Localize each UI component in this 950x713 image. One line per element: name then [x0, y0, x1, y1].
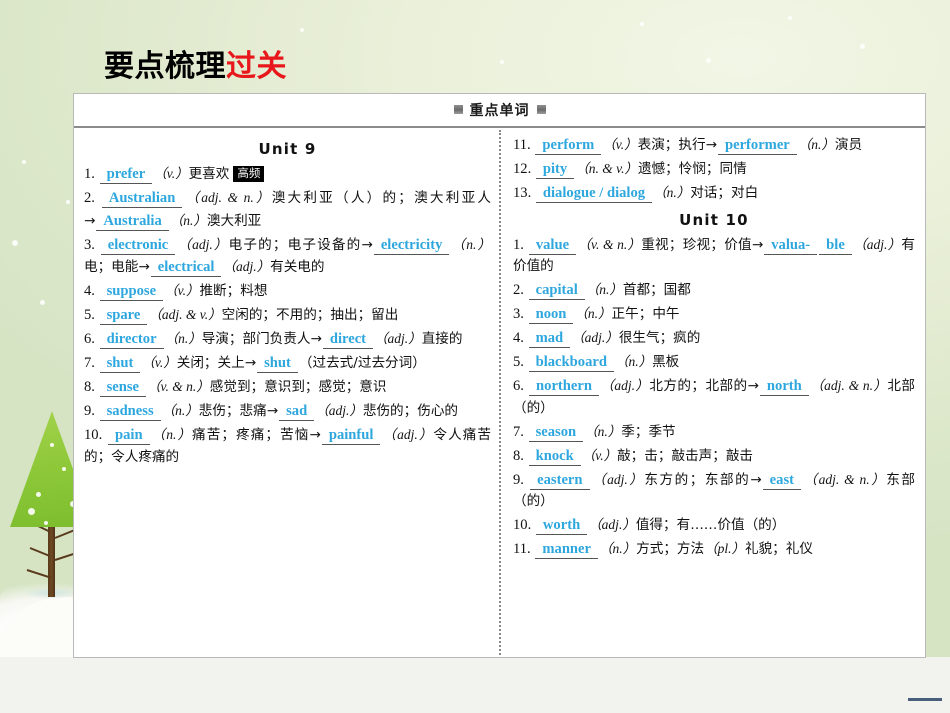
definition-text: 空闲的；不用的；抽出；留出 [222, 307, 399, 323]
column-right: 11. perform（v.）表演；执行→performer（n.）演员12. … [501, 128, 925, 657]
word-entry: 11. perform（v.）表演；执行→performer（n.）演员 [513, 134, 915, 157]
definition-text: 直接的 [422, 331, 463, 347]
part-of-speech: （adj.） [600, 378, 649, 393]
part-of-speech: （v.） [153, 166, 188, 181]
word-entry: 5. spare（adj. & v.）空闲的；不用的；抽出；留出 [84, 304, 491, 327]
panel-header: 重点单词 [74, 94, 925, 128]
answer-blank[interactable]: sadness [100, 403, 161, 421]
definition-text: 痛苦；疼痛；苦恼→ [192, 427, 321, 443]
part-of-speech: （pl.） [704, 541, 745, 556]
definition-text: 推断；料想 [199, 283, 267, 299]
square-marker-icon [454, 105, 463, 114]
word-entry-number: 11. [513, 541, 534, 557]
answer-blank[interactable]: pity [536, 161, 574, 179]
word-entry-number: 2. [513, 282, 528, 298]
part-of-speech: （v. & n.） [577, 237, 641, 252]
answer-blank[interactable]: painful [322, 427, 381, 445]
answer-blank[interactable]: noon [529, 306, 574, 324]
definition-text: 重视；珍视；价值→ [641, 237, 763, 253]
definition-text: 敲；击；敲击声；敲击 [617, 448, 753, 464]
definition-text: 悲伤；悲痛→ [199, 403, 278, 419]
part-of-speech: （n.） [615, 354, 652, 369]
part-of-speech: （n.） [165, 331, 202, 346]
page-background-footer-band [0, 657, 950, 713]
word-entry: 3. noon（n.）正午；中午 [513, 303, 915, 326]
answer-blank[interactable]: pain [108, 427, 150, 445]
word-entry-number: 8. [513, 448, 528, 464]
answer-blank[interactable]: ble [819, 237, 852, 255]
word-entry: 4. suppose（v.）推断；料想 [84, 280, 491, 303]
part-of-speech: （n.） [653, 185, 690, 200]
word-entry: 10. worth（adj.）值得；有……价值（的） [513, 514, 915, 537]
word-entry: 5. blackboard（n.）黑板 [513, 351, 915, 374]
definition-text: 电；电能→ [84, 259, 150, 275]
page-title-accent: 过关 [226, 49, 287, 84]
definition-text: 首都；国都 [623, 282, 691, 298]
part-of-speech: （adj.） [315, 403, 363, 418]
part-of-speech: （adj. & n.） [802, 472, 886, 487]
part-of-speech: （n.） [599, 541, 636, 556]
part-of-speech: （adj.） [381, 427, 433, 442]
word-entry: 8. knock（v.）敲；击；敲击声；敲击 [513, 445, 915, 468]
word-entry-number: 6. [513, 378, 528, 394]
definition-text: 正午；中午 [612, 306, 680, 322]
part-of-speech: （adj.） [571, 330, 619, 345]
definition-text: 礼貌；礼仪 [745, 541, 813, 557]
answer-blank[interactable]: electronic [101, 237, 176, 255]
word-entry: 8. sense（v. & n.）感觉到；意识到；感觉；意识 [84, 376, 491, 399]
definition-text: 表演；执行→ [638, 137, 717, 153]
definition-text: 更喜欢 [189, 166, 230, 182]
definition-text: 很生气；疯的 [619, 330, 701, 346]
snow-dot [50, 443, 54, 447]
definition-text: 导演；部门负责人→ [202, 331, 322, 347]
word-entry: 2. capital（n.）首都；国都 [513, 279, 915, 302]
answer-blank[interactable]: east [763, 472, 801, 490]
corner-marker [908, 698, 942, 701]
answer-blank[interactable]: direct [323, 331, 373, 349]
word-entry: 4. mad（adj.）很生气；疯的 [513, 327, 915, 350]
answer-blank[interactable]: sad [279, 403, 314, 421]
answer-blank[interactable]: perform [535, 137, 601, 155]
word-entry: 9. eastern（adj.）东方的；东部的→east（adj. & n.）东… [513, 469, 915, 513]
word-entry-number: 3. [84, 237, 100, 253]
answer-blank[interactable]: dialogue / dialog [536, 185, 652, 203]
answer-blank[interactable]: manner [535, 541, 598, 559]
part-of-speech: （n.） [584, 424, 621, 439]
answer-blank[interactable]: electricity [374, 237, 450, 255]
word-entry: 10. pain（n.）痛苦；疼痛；苦恼→painful（adj.）令人痛苦的；… [84, 424, 491, 468]
definition-text: 电子的；电子设备的→ [229, 237, 373, 253]
definition-text: 季；季节 [621, 424, 675, 440]
answer-blank[interactable]: knock [529, 448, 581, 466]
word-entry-number: 4. [513, 330, 528, 346]
word-entry: 12. pity（n. & v.）遗憾；怜悯；同情 [513, 158, 915, 181]
answer-blank[interactable]: performer [718, 137, 797, 155]
part-of-speech: （adj. & n.） [183, 190, 271, 205]
part-of-speech: （n.） [574, 306, 611, 321]
content-panel: 重点单词 Unit 9 1. prefer（v.）更喜欢高频2. Austral… [73, 93, 926, 658]
word-entry: 7. season（n.）季；季节 [513, 421, 915, 444]
part-of-speech: （adj.） [222, 259, 270, 274]
word-entry-number: 7. [513, 424, 528, 440]
answer-blank[interactable]: valua- [764, 237, 817, 255]
word-entry: 6. director（n.）导演；部门负责人→direct（adj.）直接的 [84, 328, 491, 351]
column-left: Unit 9 1. prefer（v.）更喜欢高频2. Australian（a… [74, 128, 499, 657]
definition-text: 东方的；东部的→ [644, 472, 761, 488]
word-entry: 1. value（v. & n.）重视；珍视；价值→valua-ble（adj.… [513, 234, 915, 278]
word-entry-number: 1. [513, 237, 528, 253]
page-title-main: 要点梳理 [104, 49, 226, 84]
definition-text: 方式；方法 [636, 541, 704, 557]
answer-blank[interactable]: season [529, 424, 584, 442]
word-list-unit9: 1. prefer（v.）更喜欢高频2. Australian（adj. & n… [84, 163, 491, 468]
word-entry-number: 10. [84, 427, 107, 443]
word-entry: 2. Australian（adj. & n.）澳大利亚（人）的；澳大利亚人→A… [84, 187, 491, 232]
snow-dot [36, 492, 41, 497]
word-entry-number: 10. [513, 517, 535, 533]
part-of-speech: （n. & v.） [575, 161, 638, 176]
part-of-speech: （n.） [586, 282, 623, 297]
word-entry-number: 1. [84, 166, 99, 182]
word-entry: 3. electronic（adj.）电子的；电子设备的→electricity… [84, 234, 491, 279]
part-of-speech: （adj.） [853, 237, 902, 252]
answer-blank[interactable]: eastern [530, 472, 589, 490]
definition-text: 黑板 [652, 354, 679, 370]
word-entry: 13. dialogue / dialog（n.）对话；对白 [513, 182, 915, 205]
part-of-speech: （v.） [141, 355, 176, 370]
word-entry-number: 3. [513, 306, 528, 322]
part-of-speech: （adj.） [176, 237, 228, 252]
word-entry-number: 9. [513, 472, 529, 488]
answer-blank[interactable]: blackboard [529, 354, 614, 372]
unit-heading-9: Unit 9 [84, 140, 491, 158]
answer-blank[interactable]: shut [257, 355, 298, 373]
definition-text: 关闭；关上→ [177, 355, 256, 371]
part-of-speech: （v.） [582, 448, 617, 463]
part-of-speech: （adj. & v.） [148, 307, 221, 322]
snow-dot [62, 467, 66, 471]
part-of-speech: （n.） [798, 137, 835, 152]
word-entry-number: 6. [84, 331, 99, 347]
page-title: 要点梳理过关 [104, 41, 287, 85]
unit-heading-10: Unit 10 [513, 211, 915, 229]
snow-dot [44, 521, 48, 525]
word-entry: 6. northern（adj.）北方的；北部的→north（adj. & n.… [513, 375, 915, 419]
answer-blank[interactable]: value [529, 237, 576, 255]
part-of-speech: （adj. & n.） [810, 378, 888, 393]
answer-blank[interactable]: capital [529, 282, 585, 300]
word-entry-number: 5. [84, 307, 99, 323]
answer-blank[interactable]: mad [529, 330, 571, 348]
high-frequency-badge: 高频 [233, 166, 264, 182]
word-entry-number: 2. [84, 190, 101, 206]
definition-text: 北方的；北部的→ [649, 378, 759, 394]
part-of-speech: （adj.） [591, 472, 645, 487]
answer-blank[interactable]: sense [100, 379, 146, 397]
answer-blank[interactable]: worth [536, 517, 587, 535]
word-entry-number: 9. [84, 403, 99, 419]
word-entry: 11. manner（n.）方式；方法（pl.）礼貌；礼仪 [513, 538, 915, 561]
answer-blank[interactable]: north [760, 378, 809, 396]
word-entry-number: 13. [513, 185, 535, 201]
answer-blank[interactable]: Australia [96, 213, 168, 231]
definition-text: 对话；对白 [690, 185, 758, 201]
word-list-unit10: 1. value（v. & n.）重视；珍视；价值→valua-ble（adj.… [513, 234, 915, 561]
panel-header-label: 重点单词 [470, 100, 530, 120]
answer-blank[interactable]: electrical [151, 259, 222, 277]
word-entry: 9. sadness（n.）悲伤；悲痛→sad（adj.）悲伤的；伤心的 [84, 400, 491, 423]
word-entry-number: 5. [513, 354, 528, 370]
part-of-speech: （n.） [162, 403, 199, 418]
part-of-speech: （n.） [151, 427, 192, 442]
square-marker-icon [537, 105, 546, 114]
part-of-speech: （v.） [164, 283, 199, 298]
word-list-unit9-continued: 11. perform（v.）表演；执行→performer（n.）演员12. … [513, 134, 915, 205]
answer-blank[interactable]: prefer [100, 166, 153, 184]
definition-text: 悲伤的；伤心的 [363, 403, 458, 419]
definition-text: 值得；有……价值（的） [636, 517, 786, 533]
word-entry: 1. prefer（v.）更喜欢高频 [84, 163, 491, 186]
word-entry-number: 4. [84, 283, 99, 299]
answer-blank[interactable]: director [100, 331, 164, 349]
definition-text: 演员 [835, 137, 862, 153]
part-of-speech: （v.） [602, 137, 637, 152]
part-of-speech: （adj.） [588, 517, 636, 532]
definition-text: 遗憾；怜悯；同情 [638, 161, 747, 177]
answer-blank[interactable]: shut [100, 355, 141, 373]
definition-text: （过去式/过去分词） [299, 355, 426, 371]
definition-text: 澳大利亚 [207, 213, 261, 229]
word-entry-number: 12. [513, 161, 535, 177]
snow-dot [28, 508, 35, 515]
word-entry-number: 8. [84, 379, 99, 395]
two-column-body: Unit 9 1. prefer（v.）更喜欢高频2. Australian（a… [74, 128, 925, 657]
word-entry-number: 11. [513, 137, 534, 153]
part-of-speech: （v. & n.） [147, 379, 210, 394]
answer-blank[interactable]: Australian [102, 190, 183, 208]
word-entry: 7. shut（v.）关闭；关上→shut（过去式/过去分词） [84, 352, 491, 375]
answer-blank[interactable]: spare [100, 307, 148, 325]
answer-blank[interactable]: northern [529, 378, 599, 396]
part-of-speech: （n.） [170, 213, 207, 228]
answer-blank[interactable]: suppose [100, 283, 163, 301]
part-of-speech: （adj.） [374, 331, 422, 346]
definition-text: 有关电的 [270, 259, 324, 275]
definition-text: 感觉到；意识到；感觉；意识 [210, 379, 387, 395]
part-of-speech: （n.） [450, 237, 491, 252]
word-entry-number: 7. [84, 355, 99, 371]
